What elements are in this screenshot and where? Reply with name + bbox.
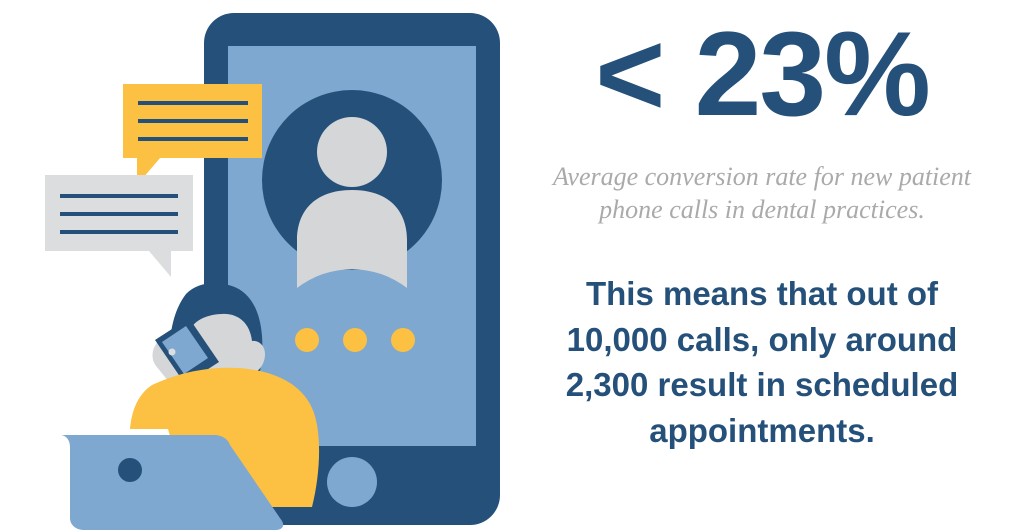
typing-dot	[391, 328, 415, 352]
typing-dot	[295, 328, 319, 352]
body-statement: This means that out of 10,000 calls, onl…	[537, 227, 987, 453]
laptop-logo	[118, 458, 142, 482]
typing-dot	[343, 328, 367, 352]
phone-home-button	[327, 457, 377, 507]
typing-indicator-dots	[295, 328, 415, 352]
phone-call-illustration	[0, 0, 520, 532]
infographic-canvas: < 23% Average conversion rate for new pa…	[0, 0, 1024, 532]
gray-speech-bubble	[45, 175, 193, 277]
headline-percentage: < 23%	[518, 0, 1006, 140]
text-column: < 23% Average conversion rate for new pa…	[500, 0, 1024, 532]
gray-bubble-body	[45, 175, 193, 277]
subtitle-caption: Average conversion rate for new patient …	[547, 140, 977, 228]
